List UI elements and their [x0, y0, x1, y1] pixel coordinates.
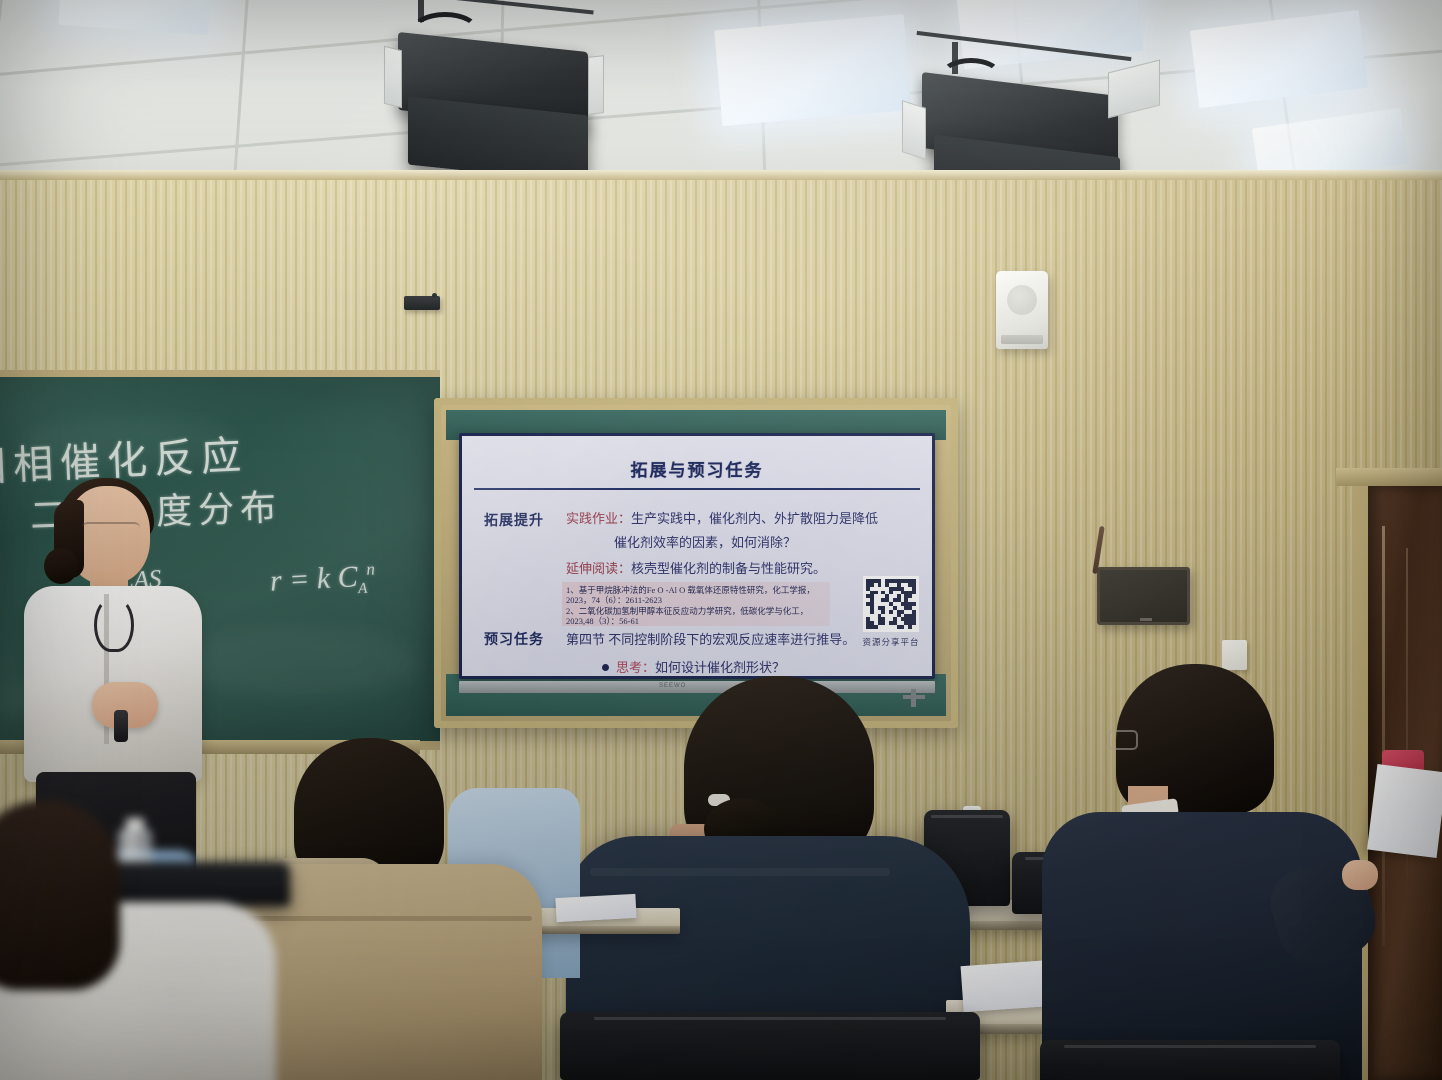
teacher-hair-bun	[44, 548, 78, 584]
bullet-text: 如何设计催化剂形状？	[655, 660, 785, 675]
slide-reading-line: 延伸阅读：核壳型催化剂的制备与性能研究。	[566, 558, 826, 577]
bullet-dot-icon	[602, 664, 609, 671]
slide: 拓展与预习任务 拓展提升 预习任务 实践作业：生产实践中，催化剂内、外扩散阻力是…	[462, 436, 932, 676]
reading-text: 核壳型催化剂的制备与性能研究。	[631, 561, 826, 576]
wall-monitor	[1097, 567, 1190, 625]
monitor-logo	[1140, 618, 1152, 621]
bullet-prefix: 思考：	[616, 660, 655, 675]
chair[interactable]	[560, 1012, 980, 1080]
lanyard	[94, 598, 134, 652]
presentation-screen[interactable]: 拓展与预习任务 拓展提升 预习任务 实践作业：生产实践中，催化剂内、外扩散阻力是…	[459, 433, 935, 679]
slide-preview-task: 第四节 不同控制阶段下的宏观反应速率进行推导。	[566, 629, 855, 648]
ceiling-light-panel	[714, 14, 912, 126]
slide-assignment-line-2: 催化剂效率的因素，如何消除？	[614, 532, 796, 551]
speaker-cone	[1007, 285, 1037, 315]
reading-heading: 延伸阅读：	[566, 561, 631, 576]
speaker-vent	[1001, 335, 1043, 344]
equation-sub: A	[358, 581, 368, 597]
reference-line-4: 2023,48（3）：56-61	[566, 615, 639, 627]
chair[interactable]	[1040, 1040, 1340, 1080]
slide-reference-box: 1、基于甲烷脉冲法的Fe O -Al O 载氧体还原特性研究，化工学报， 202…	[562, 582, 830, 626]
slide-title-rule	[474, 488, 920, 490]
equation-main: r = k C	[269, 560, 358, 598]
equation-sup: n	[366, 559, 375, 578]
blackboard-equation: r = k CAn	[269, 559, 376, 602]
slide-section-label-extension: 拓展提升	[484, 510, 544, 530]
slide-bullet-row: 思考：如何设计催化剂形状？	[602, 657, 785, 676]
slide-assignment-line-1: 实践作业：生产实践中，催化剂内、外扩散阻力是降低	[566, 508, 878, 527]
qr-block[interactable]: 资源分享平台	[860, 576, 922, 648]
wall-speaker	[996, 271, 1048, 349]
qr-code-icon[interactable]	[863, 576, 919, 632]
attendee-hand	[1342, 860, 1378, 890]
presenter-remote[interactable]	[114, 710, 128, 742]
wall-sensor-device	[404, 296, 440, 310]
slide-section-label-preview: 预习任务	[484, 629, 544, 649]
door-header-trim	[1336, 468, 1442, 486]
assignment-text-1: 生产实践中，催化剂内、外扩散阻力是降低	[631, 511, 878, 526]
foreground-head	[0, 800, 120, 990]
classroom-photo: 固相催化反应 二、浓度分布 CAS CAc r = k CAn 拓展与预习任务 …	[0, 0, 1442, 1080]
shoulder-highlight	[590, 868, 890, 876]
attendee-navy-blazer	[1042, 664, 1372, 1080]
assignment-heading: 实践作业：	[566, 511, 631, 526]
glasses-icon	[82, 522, 140, 535]
qr-modules	[866, 579, 916, 629]
qr-caption: 资源分享平台	[860, 636, 922, 648]
held-papers[interactable]	[1367, 764, 1442, 858]
door-panel-highlight	[1382, 526, 1385, 946]
wall-top-trim	[0, 170, 1442, 180]
ceiling-projector-left	[386, 0, 626, 194]
slide-title: 拓展与预习任务	[462, 456, 932, 481]
glasses-icon	[1108, 730, 1138, 750]
